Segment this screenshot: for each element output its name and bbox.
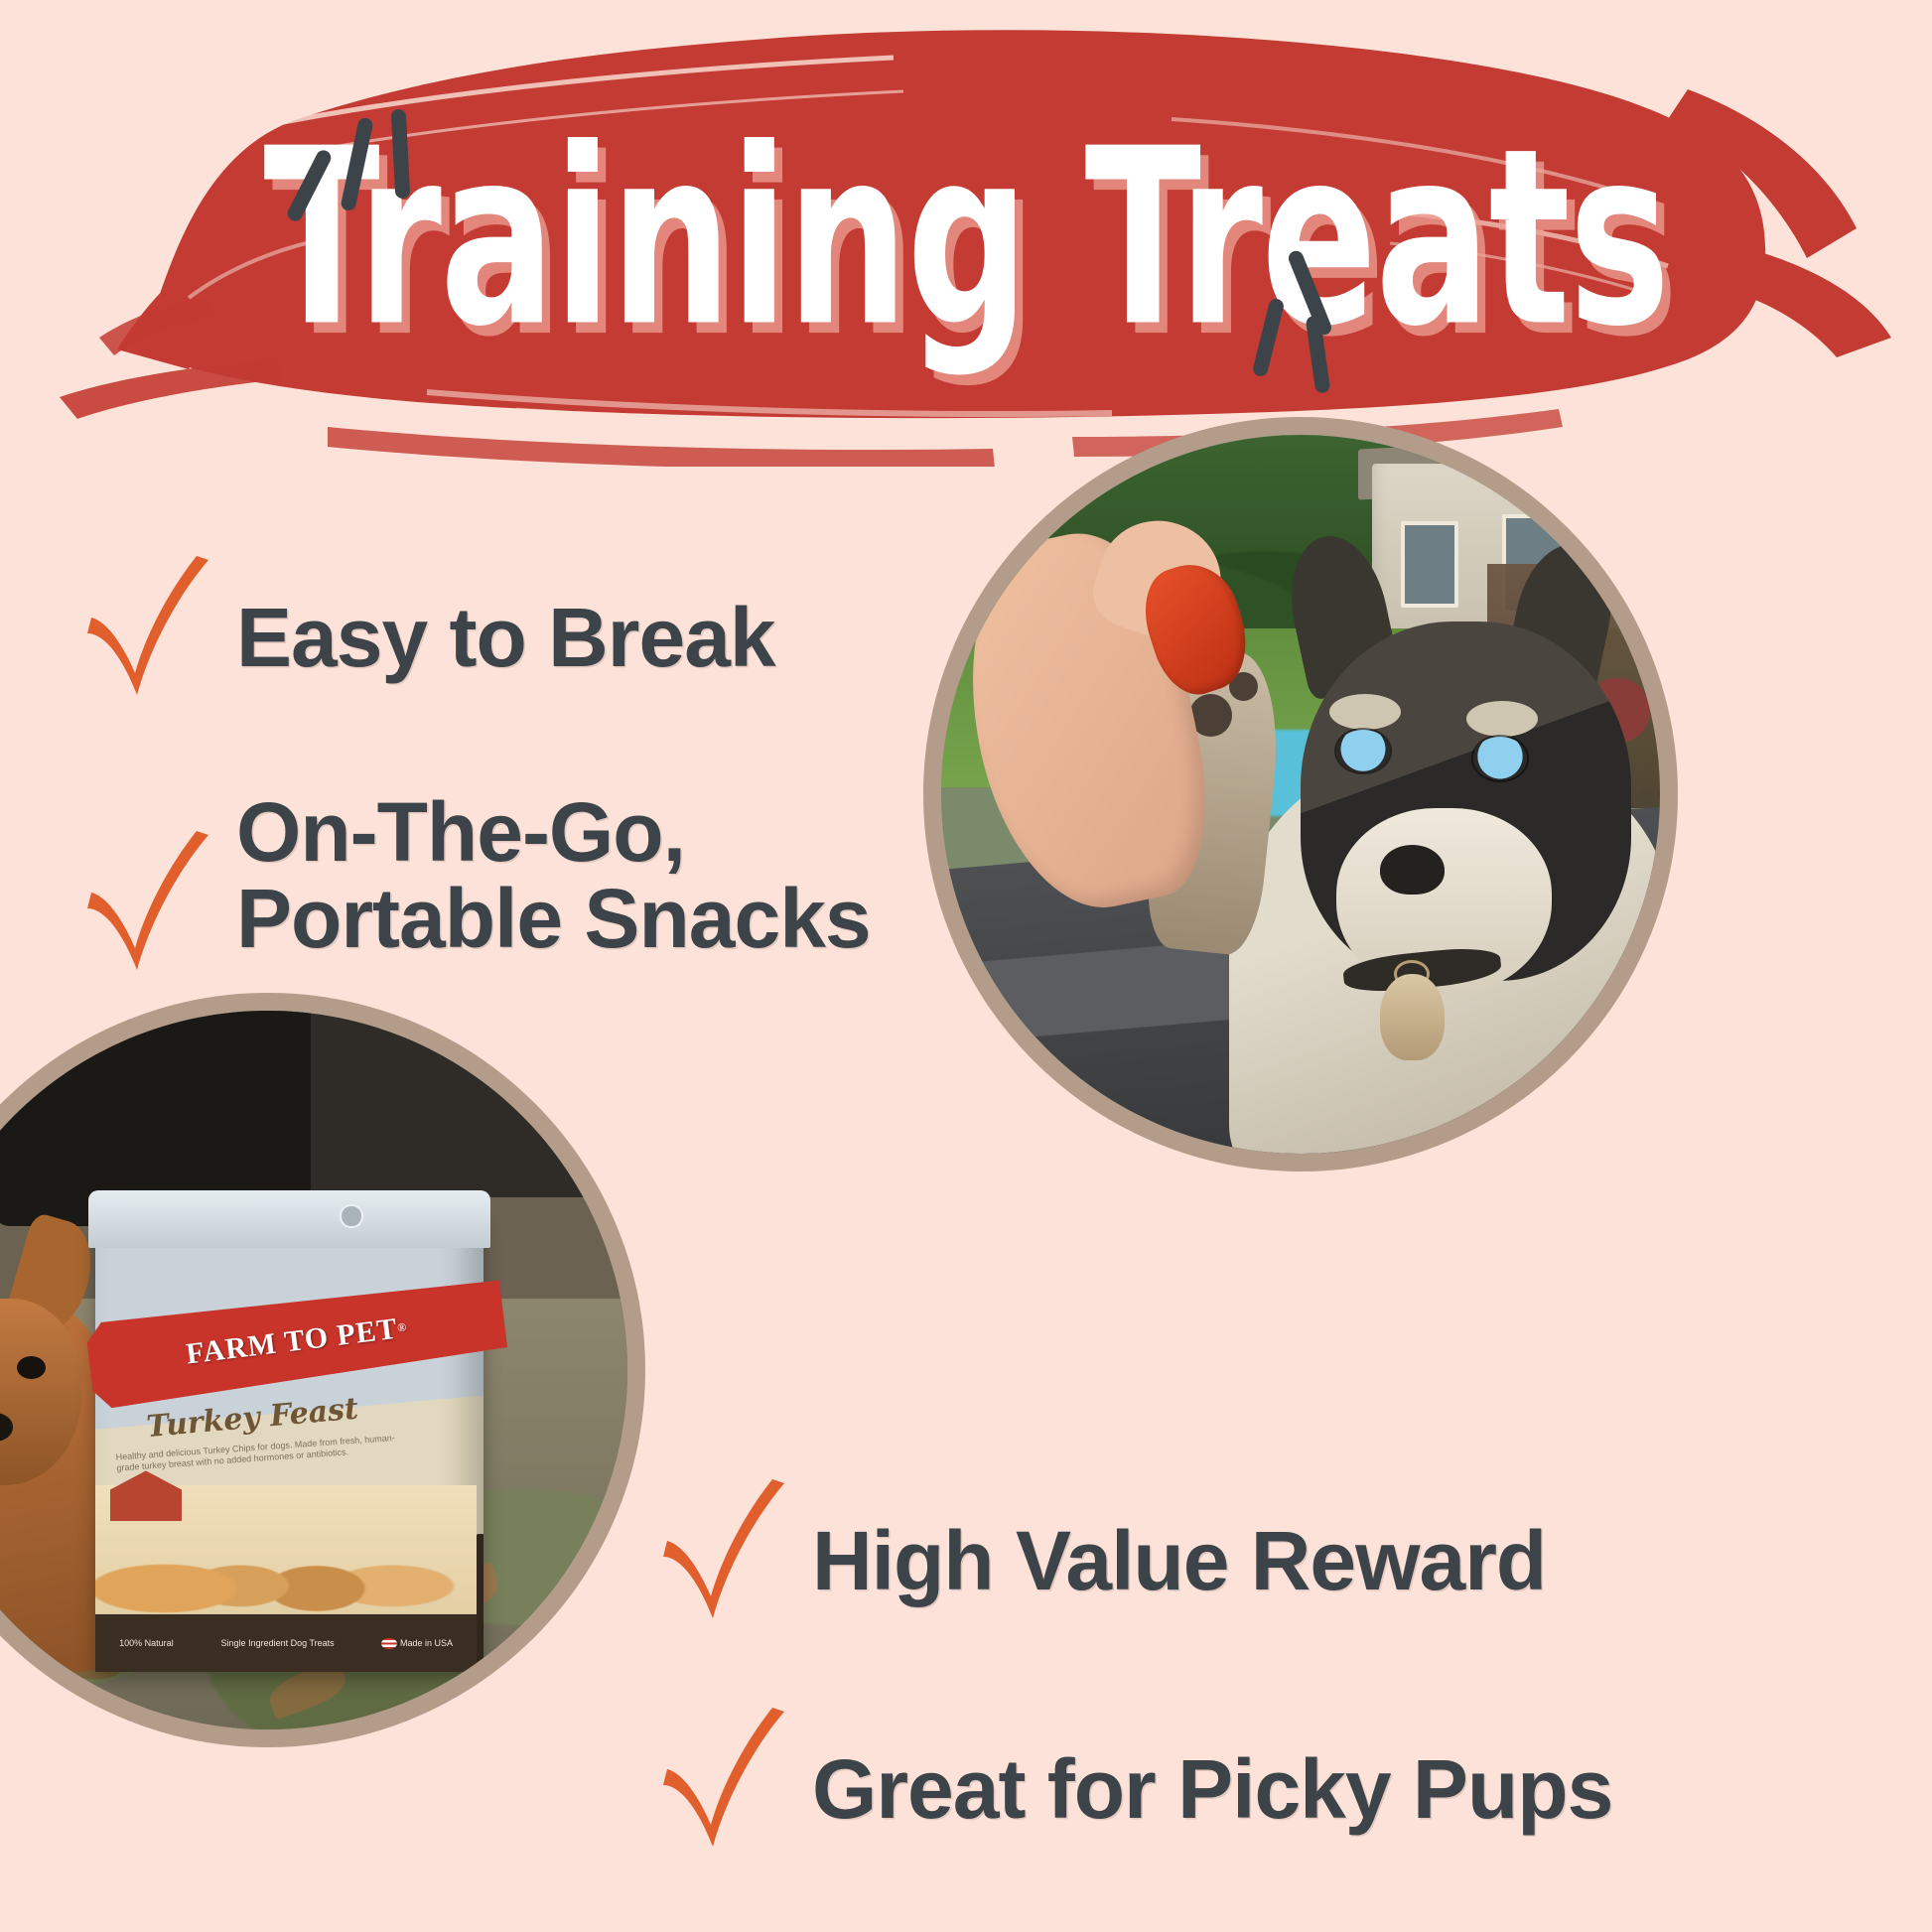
made-in-usa: Made in USA xyxy=(381,1638,453,1649)
product-claims: 100% Natural Single Ingredient Dog Treat… xyxy=(95,1618,477,1669)
feature-label: High Value Reward xyxy=(812,1518,1546,1604)
feature-label-line2: Portable Snacks xyxy=(236,876,871,962)
claim-single-ingredient: Single Ingredient Dog Treats xyxy=(221,1638,335,1648)
feature-label: Easy to Break xyxy=(236,595,775,681)
usa-flag-icon xyxy=(381,1638,397,1649)
photo-product-bag: FARM TO PET® Turkey Feast Healthy and de… xyxy=(0,993,645,1747)
check-icon xyxy=(655,1708,794,1871)
check-icon xyxy=(655,1479,794,1643)
header-banner: Training Treats xyxy=(0,0,1932,467)
feature-item-high-value-reward: High Value Reward xyxy=(655,1479,1546,1643)
promo-graphic: Training Treats Easy to Break On-The-Go,… xyxy=(0,0,1932,1932)
photo-dog-with-treat: Husky dog with blue eyes raising paw for… xyxy=(923,417,1678,1172)
feature-item-picky-pups: Great for Picky Pups xyxy=(655,1708,1612,1871)
check-icon xyxy=(79,831,218,995)
page-title: Training Treats xyxy=(77,117,1855,360)
feature-label: Great for Picky Pups xyxy=(812,1746,1612,1833)
feature-item-on-the-go: On-The-Go, Portable Snacks xyxy=(79,789,871,995)
claim-natural: 100% Natural xyxy=(119,1638,174,1648)
feature-item-easy-to-break: Easy to Break xyxy=(79,556,775,720)
feature-label-line1: On-The-Go, xyxy=(236,789,871,876)
check-icon xyxy=(79,556,218,720)
